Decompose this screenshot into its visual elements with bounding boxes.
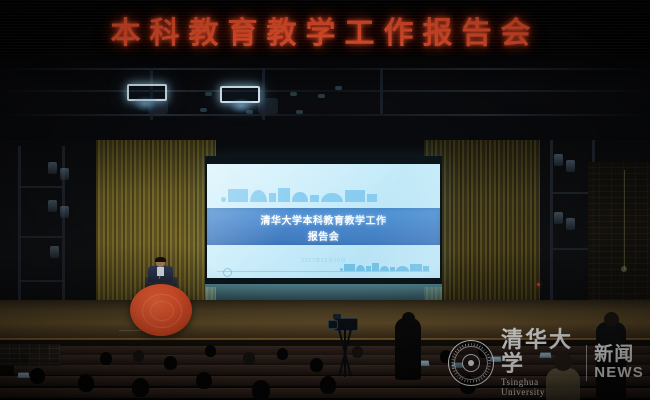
skyline-building <box>380 266 389 271</box>
seal-center <box>468 360 474 366</box>
podium-emblem-disc <box>130 284 192 336</box>
truss-beam <box>380 68 383 114</box>
rig-lamp <box>554 154 563 166</box>
lighting-truss <box>18 186 65 188</box>
watermark-channel-en: NEWS <box>594 365 644 382</box>
stage-light-housing <box>258 98 278 114</box>
camera-operator-head <box>402 312 415 325</box>
rig-lamp <box>554 212 563 224</box>
audience-head <box>78 374 94 392</box>
lighting-truss <box>18 236 65 238</box>
skyline-building <box>366 266 371 271</box>
slide-title-line-2: 报告会 <box>207 228 440 243</box>
skyline-building <box>269 193 276 202</box>
camera-operator <box>395 318 421 380</box>
rig-lamp <box>566 218 575 230</box>
led-banner: 本科教育教学工作报告会 <box>0 0 650 62</box>
skyline-building <box>372 263 379 271</box>
audience-head <box>277 348 288 360</box>
standing-attendee-head <box>604 312 619 327</box>
watermark: 清华大学 Tsinghua University 新闻 NEWS <box>448 336 644 390</box>
camera-tripod <box>330 318 360 378</box>
skyline-building <box>310 195 319 202</box>
rig-lamp <box>60 206 69 218</box>
skyline-building <box>340 268 343 271</box>
rig-lamp <box>566 160 575 172</box>
rig-lamp <box>48 162 57 174</box>
audience-head <box>100 352 112 365</box>
rope-weight <box>621 266 627 272</box>
truss-fixture <box>335 86 342 90</box>
truss-fixture <box>200 108 207 112</box>
audience-head <box>320 376 336 394</box>
audience-head <box>164 356 177 370</box>
equipment-indicator-light <box>537 283 540 286</box>
hanging-rope <box>624 170 625 270</box>
truss-fixture <box>318 94 325 98</box>
led-banner-text: 本科教育教学工作报告会 <box>0 8 650 52</box>
skyline-building <box>423 266 429 271</box>
truss-fixture <box>290 92 297 96</box>
slide-divider <box>217 271 430 272</box>
watermark-channel: 新闻 NEWS <box>594 345 644 381</box>
audience-head <box>252 380 270 400</box>
audience-head <box>132 378 149 397</box>
lighting-truss <box>550 140 553 325</box>
campus-skyline-graphic <box>221 185 419 202</box>
watermark-university-en: Tsinghua University <box>501 377 579 397</box>
truss-rail <box>0 68 650 70</box>
audience-head <box>205 345 216 357</box>
seal-tick-ring <box>451 343 491 383</box>
projection-screen: 清华大学本科教育教学工作 报告会 2017年11月10日 <box>205 156 442 287</box>
skyline-building <box>278 188 290 202</box>
skyline-building <box>345 190 365 202</box>
campus-skyline-footer-graphic <box>340 260 432 271</box>
audience-head <box>133 350 144 362</box>
lighting-truss <box>18 146 21 316</box>
watermark-divider <box>586 345 587 381</box>
presentation-slide: 清华大学本科教育教学工作 报告会 2017年11月10日 <box>207 164 440 278</box>
watermark-channel-cn: 新闻 <box>594 345 644 365</box>
rig-lamp <box>50 246 59 258</box>
skyline-building <box>390 267 395 271</box>
tsinghua-seal-icon <box>448 340 494 386</box>
skyline-building <box>221 197 226 202</box>
lighting-truss <box>18 280 65 282</box>
skyline-building <box>228 189 248 202</box>
truss-fixture <box>246 110 253 114</box>
skyline-building <box>410 264 422 271</box>
skyline-building <box>344 264 355 271</box>
camera-lens <box>328 320 338 329</box>
audience-head <box>310 358 323 372</box>
truss-fixture <box>296 110 303 114</box>
auditorium-photo: 本科教育教学工作报告会 <box>0 0 650 400</box>
audience-head <box>196 372 212 389</box>
rig-lamp <box>60 168 69 180</box>
watermark-university-cn: 清华大学 <box>501 329 579 375</box>
audience-laptop-screen <box>17 373 29 378</box>
skyline-building <box>367 194 377 202</box>
skyline-building <box>292 192 308 202</box>
skyline-building <box>321 193 343 202</box>
truss-rail <box>0 114 650 116</box>
truss-rail <box>0 90 650 92</box>
skyline-building <box>356 265 365 271</box>
stage-light-glow <box>132 96 158 112</box>
stage-cable <box>119 330 141 331</box>
audience-head <box>30 368 45 384</box>
truss-fixture <box>205 92 212 96</box>
house-side-wall <box>0 344 60 366</box>
rig-lamp <box>48 200 57 212</box>
slide-circle-marker <box>223 268 232 277</box>
skyline-building <box>250 190 267 202</box>
podium-emblem-ring <box>150 301 174 321</box>
slide-title-band: 清华大学本科教育教学工作 报告会 <box>207 208 440 245</box>
slide-title-line-1: 清华大学本科教育教学工作 <box>207 212 440 227</box>
watermark-university: 清华大学 Tsinghua University <box>501 329 579 396</box>
camera-viewfinder <box>333 314 341 319</box>
skyline-building <box>396 266 409 271</box>
audience-head <box>243 352 255 365</box>
speaker-hair <box>155 257 166 262</box>
